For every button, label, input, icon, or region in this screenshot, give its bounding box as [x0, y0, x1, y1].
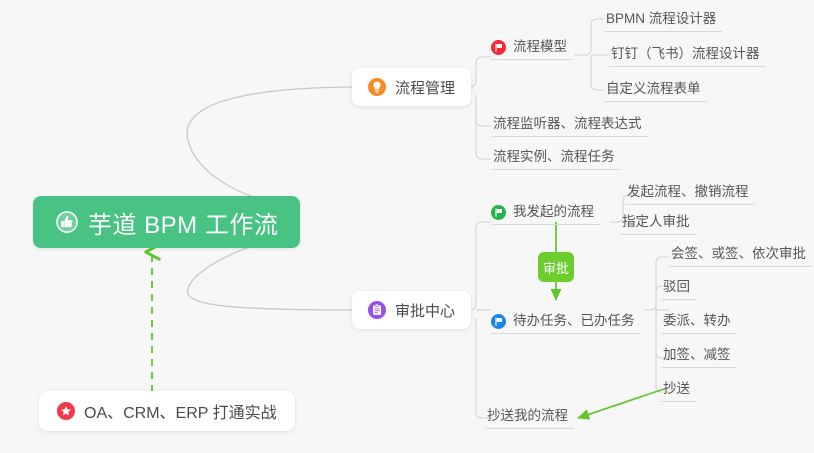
edge-process-model-to-customform — [591, 55, 604, 90]
flag-icon — [491, 205, 506, 220]
node-start-cancel-label: 发起流程、撤销流程 — [627, 184, 749, 200]
node-add-remove-sign[interactable]: 加签、减签 — [661, 344, 737, 368]
edge-process-management-to-instance — [476, 95, 491, 159]
lightbulb-icon — [368, 78, 386, 96]
clipboard-icon — [368, 301, 386, 319]
node-instance-task[interactable]: 流程实例、流程任务 — [491, 146, 621, 170]
edge-root-to-approval-center — [187, 238, 352, 310]
thumbs-up-icon — [55, 210, 79, 234]
node-integration-note-label: OA、CRM、ERP 打通实战 — [84, 399, 277, 423]
root-label: 芋道 BPM 工作流 — [88, 205, 278, 240]
node-start-cancel[interactable]: 发起流程、撤销流程 — [625, 181, 755, 205]
node-process-model[interactable]: 流程模型 — [491, 36, 573, 60]
node-delegate-transfer-label: 委派、转办 — [663, 313, 731, 329]
node-reject[interactable]: 驳回 — [661, 276, 696, 300]
node-process-model-label: 流程模型 — [513, 39, 567, 55]
node-my-initiated-label: 我发起的流程 — [513, 204, 594, 220]
edge-process-management-to-listener — [476, 95, 491, 126]
node-listener-expression[interactable]: 流程监听器、流程表达式 — [491, 113, 648, 137]
node-instance-task-label: 流程实例、流程任务 — [493, 149, 615, 165]
edge-root-to-process-management — [187, 87, 352, 205]
node-integration-note[interactable]: OA、CRM、ERP 打通实战 — [39, 391, 295, 431]
node-cc[interactable]: 抄送 — [661, 378, 696, 402]
node-custom-process-form-label: 自定义流程表单 — [606, 81, 701, 97]
edge-approval-center-to-ccme — [476, 318, 491, 418]
node-bpmn-designer[interactable]: BPMN 流程设计器 — [604, 8, 722, 32]
node-add-remove-sign-label: 加签、减签 — [663, 347, 731, 363]
node-countersign-label: 会签、或签、依次审批 — [671, 246, 806, 262]
node-assignee-approval-label: 指定人审批 — [622, 214, 690, 230]
node-todo-done-tasks-label: 待办任务、已办任务 — [513, 313, 635, 329]
node-reject-label: 驳回 — [663, 279, 690, 295]
node-listener-expression-label: 流程监听器、流程表达式 — [493, 116, 642, 132]
node-dingtalk-feishu-designer[interactable]: 钉钉（飞书）流程设计器 — [609, 43, 766, 67]
edge-process-model-spine — [574, 19, 604, 55]
node-dingtalk-feishu-designer-label: 钉钉（飞书）流程设计器 — [611, 46, 760, 62]
approval-badge[interactable]: 审批 — [538, 252, 574, 282]
flag-icon — [491, 40, 506, 55]
node-approval-center-label: 审批中心 — [395, 300, 455, 321]
node-assignee-approval[interactable]: 指定人审批 — [620, 211, 696, 235]
node-cc-label: 抄送 — [663, 381, 690, 397]
node-my-initiated[interactable]: 我发起的流程 — [491, 201, 600, 225]
node-cc-to-me[interactable]: 抄送我的流程 — [485, 405, 574, 429]
node-process-management-label: 流程管理 — [395, 77, 455, 98]
node-todo-done-tasks[interactable]: 待办任务、已办任务 — [491, 310, 641, 334]
node-approval-center[interactable]: 审批中心 — [352, 291, 471, 329]
star-icon — [57, 402, 75, 420]
root-node[interactable]: 芋道 BPM 工作流 — [33, 196, 300, 248]
flag-icon — [491, 314, 506, 329]
node-delegate-transfer[interactable]: 委派、转办 — [661, 310, 737, 334]
mindmap-canvas: 芋道 BPM 工作流 流程管理 流程模型 BPMN 流程设计器 钉钉（飞书）流程… — [0, 0, 814, 453]
approval-badge-label: 审批 — [543, 258, 569, 277]
node-custom-process-form[interactable]: 自定义流程表单 — [604, 78, 707, 102]
node-countersign[interactable]: 会签、或签、依次审批 — [669, 243, 812, 267]
node-cc-to-me-label: 抄送我的流程 — [487, 408, 568, 424]
arrow-cc-to-ccme — [578, 389, 664, 418]
node-process-management[interactable]: 流程管理 — [352, 68, 471, 106]
node-bpmn-designer-label: BPMN 流程设计器 — [606, 11, 716, 27]
